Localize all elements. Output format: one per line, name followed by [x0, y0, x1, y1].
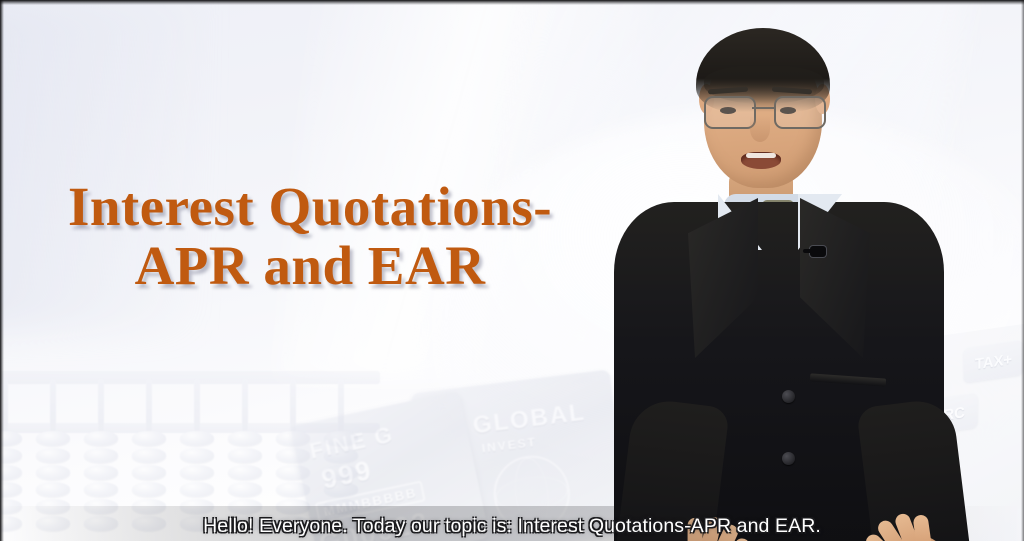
lapel-microphone-icon	[810, 246, 826, 257]
gold-bar-global-line1: GLOBAL	[471, 399, 587, 441]
jacket-button-top	[782, 390, 795, 403]
video-frame: GLOBAL INVEST FINE G 999 MMMBBBBB G00022…	[0, 0, 1024, 541]
presenter-figure	[596, 18, 996, 541]
frame-edge-top	[0, 0, 1024, 5]
torso	[614, 194, 944, 541]
mouth	[741, 152, 781, 169]
frame-edge-left	[0, 0, 4, 541]
jacket-button-bottom	[782, 452, 795, 465]
slide-title: Interest Quotations- APR and EAR	[30, 178, 590, 296]
subtitle-caption: Hello! Everyone. Today our topic is: Int…	[0, 515, 1024, 538]
nose	[750, 116, 770, 142]
